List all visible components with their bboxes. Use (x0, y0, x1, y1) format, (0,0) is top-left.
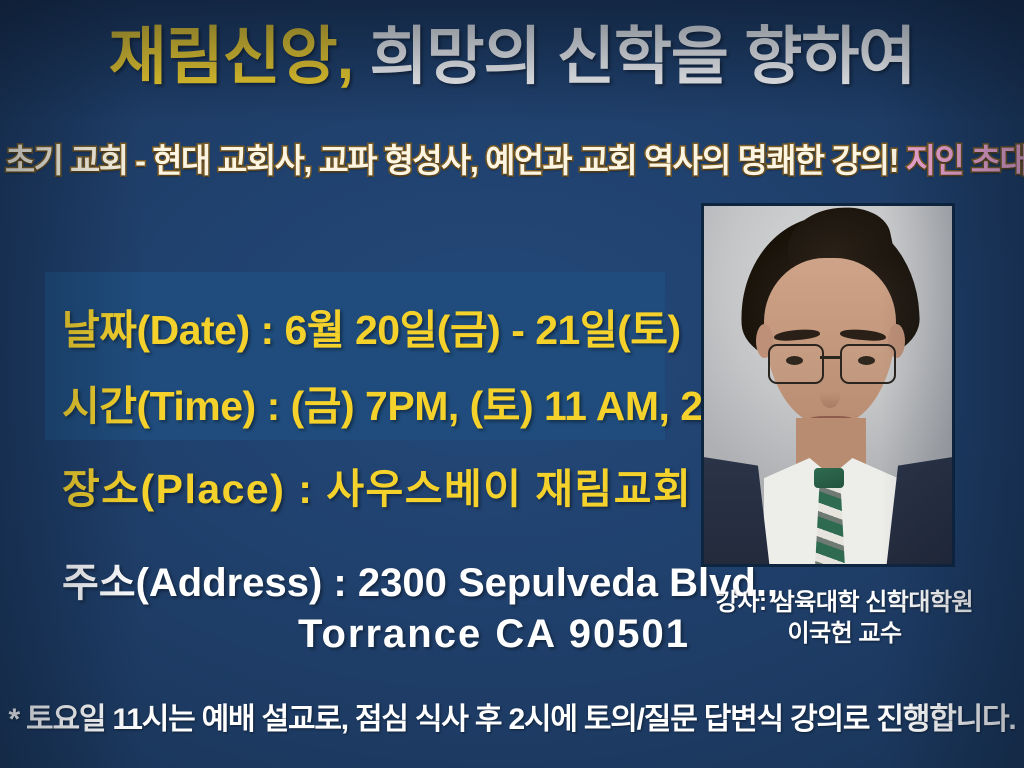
event-poster: 재림신앙, 희망의 신학을 향하여 초기 교회 - 현대 교회사, 교파 형성사… (0, 0, 1024, 768)
necktie-knot-shape (814, 468, 844, 488)
footnote-text: * 토요일 11시는 예배 설교로, 점심 식사 후 2시에 토의/질문 답변식… (0, 694, 1024, 738)
speaker-photo (701, 203, 955, 567)
glasses-left-lens (768, 344, 824, 384)
date-line: 날짜(Date) : 6월 20일(금) - 21일(토) (62, 296, 681, 356)
address-line-2: Torrance CA 90501 (298, 612, 690, 657)
title-main-text: 희망의 신학을 향하여 (353, 22, 915, 92)
subtitle-main-text: 초기 교회 - 현대 교회사, 교파 형성사, 예언과 교회 역사의 명쾌한 강… (5, 142, 898, 179)
time-line: 시간(Time) : (금) 7PM, (토) 11 AM, 2 PM (62, 372, 774, 432)
title-accent-text: 재림신앙, (109, 22, 353, 92)
speaker-caption: 강사: 삼육대학 신학대학원 이국헌 교수 (665, 588, 1024, 649)
suit-right-lapel (886, 454, 952, 564)
speaker-name: 이국헌 교수 (665, 619, 1024, 650)
suit-left-lapel (704, 454, 770, 564)
speaker-affiliation: 강사: 삼육대학 신학대학원 (665, 588, 1024, 619)
glasses-right-lens (840, 344, 896, 384)
nose-shape (820, 382, 840, 408)
place-line: 장소(Place) : 사우스베이 재림교회 (62, 455, 692, 515)
page-title: 재림신앙, 희망의 신학을 향하여 (0, 24, 1024, 90)
subtitle-banner: 초기 교회 - 현대 교회사, 교파 형성사, 예언과 교회 역사의 명쾌한 강… (5, 134, 1019, 182)
speaker-portrait-image (704, 206, 952, 564)
subtitle-highlight-text: 지인 초대 환영! (898, 142, 1024, 179)
glasses-bridge (820, 356, 840, 359)
